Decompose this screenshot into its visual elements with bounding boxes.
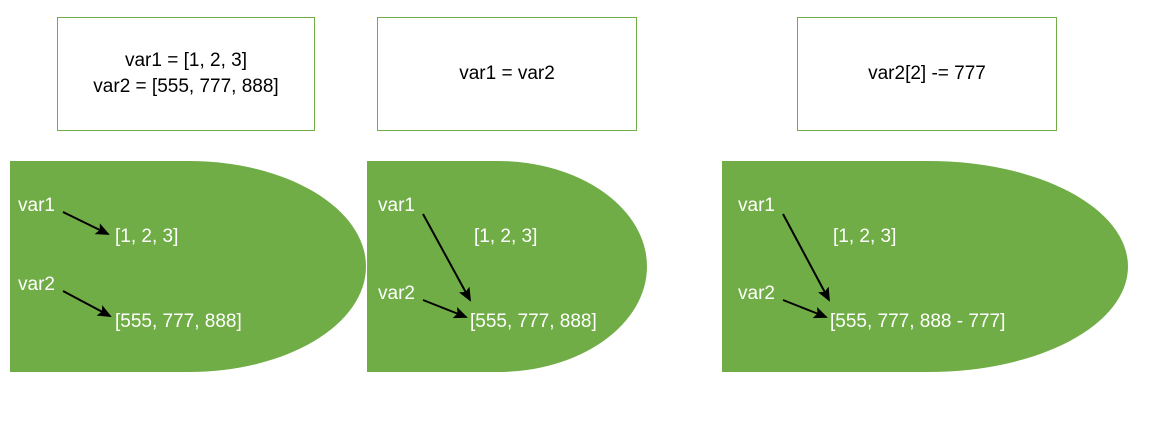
value-1-panel-3: [1, 2, 3] [833, 226, 896, 248]
code-text-panel-1: var1 = [1, 2, 3] var2 = [555, 777, 888] [93, 48, 278, 100]
code-text-panel-2: var1 = var2 [459, 61, 555, 87]
value-2-panel-2: [555, 777, 888] [470, 311, 597, 333]
value-1-panel-2: [1, 2, 3] [474, 226, 537, 248]
memory-blob-panel-2 [367, 161, 647, 372]
code-box-panel-3: var2[2] -= 777 [797, 17, 1057, 131]
var2-label-panel-2: var2 [378, 283, 415, 305]
var1-label-panel-2: var1 [378, 195, 415, 217]
var1-label-panel-3: var1 [738, 195, 775, 217]
memory-blob-panel-3 [722, 161, 1128, 372]
code-text-panel-3: var2[2] -= 777 [868, 61, 986, 87]
var2-label-panel-3: var2 [738, 283, 775, 305]
code-box-panel-2: var1 = var2 [377, 17, 637, 131]
value-2-panel-1: [555, 777, 888] [115, 311, 242, 333]
code-box-panel-1: var1 = [1, 2, 3] var2 = [555, 777, 888] [57, 17, 315, 131]
value-2-panel-3: [555, 777, 888 - 777] [830, 311, 1005, 333]
diagram-canvas: var1 = [1, 2, 3] var2 = [555, 777, 888] … [0, 0, 1150, 428]
memory-blob-panel-1 [10, 161, 366, 372]
var2-label-panel-1: var2 [18, 274, 55, 296]
var1-label-panel-1: var1 [18, 195, 55, 217]
value-1-panel-1: [1, 2, 3] [115, 226, 178, 248]
